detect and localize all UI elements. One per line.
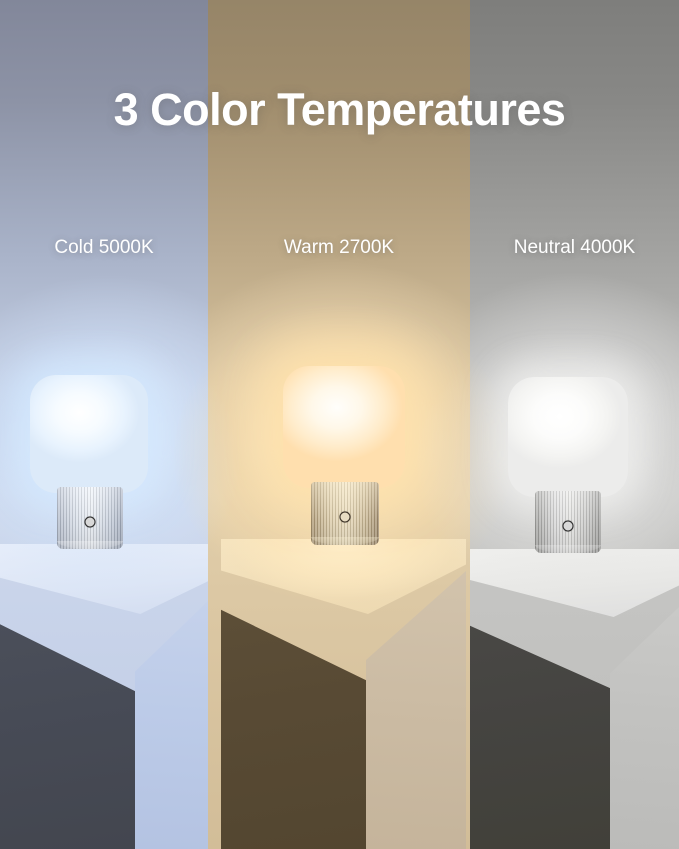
lamp-shade bbox=[30, 375, 148, 493]
pedestal-top-surface bbox=[470, 549, 679, 617]
page-title: 3 Color Temperatures bbox=[0, 84, 679, 136]
lamp-base bbox=[57, 487, 123, 549]
lamp-cold bbox=[24, 375, 154, 550]
pedestal-cold bbox=[0, 544, 208, 849]
pedestal-side-face bbox=[366, 571, 466, 849]
lamp-neutral bbox=[502, 377, 632, 553]
color-temperature-label-neutral: Neutral 4000K bbox=[470, 237, 679, 259]
pedestal-neutral bbox=[470, 549, 679, 849]
pedestal-front-face bbox=[0, 596, 137, 849]
product-feature-image: 3 Color Temperatures Cold 5000K Warm 270… bbox=[0, 0, 679, 849]
lamp-shade bbox=[283, 366, 405, 488]
pedestal-top-surface bbox=[0, 544, 208, 614]
power-button-icon[interactable] bbox=[563, 520, 574, 531]
power-button-icon[interactable] bbox=[340, 512, 351, 523]
pedestal-front-face bbox=[221, 589, 371, 849]
pedestal-front-face bbox=[470, 599, 612, 849]
pedestal-warm bbox=[221, 539, 466, 849]
lamp-base bbox=[535, 491, 601, 553]
pedestal-top-surface bbox=[221, 539, 466, 614]
lamp-warm bbox=[277, 366, 411, 546]
pedestal-side-face bbox=[610, 583, 679, 849]
lamp-shade bbox=[508, 377, 628, 497]
power-button-icon[interactable] bbox=[85, 516, 96, 527]
color-temperature-label-warm: Warm 2700K bbox=[208, 237, 470, 259]
pedestal-side-face bbox=[135, 580, 208, 849]
lamp-base bbox=[311, 482, 379, 545]
color-temperature-label-cold: Cold 5000K bbox=[0, 237, 208, 259]
